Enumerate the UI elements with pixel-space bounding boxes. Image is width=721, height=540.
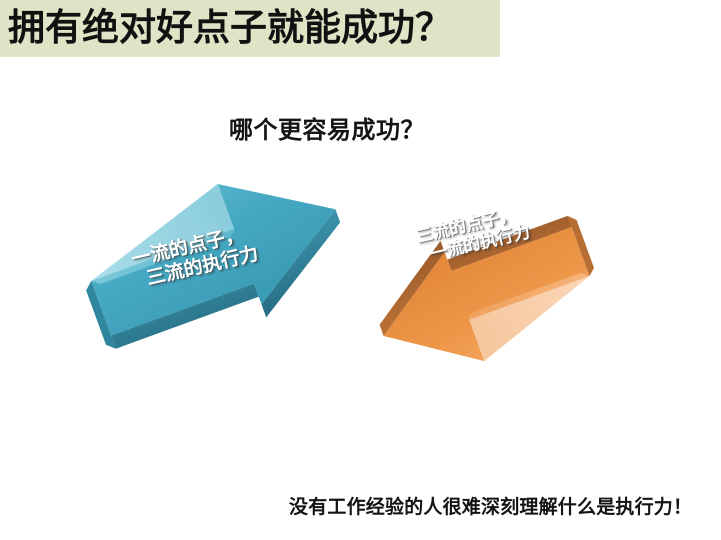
- orange-arrow-svg: [352, 178, 602, 358]
- footer-note: 没有工作经验的人很难深刻理解什么是执行力！: [289, 492, 692, 519]
- orange-arrow-graphic: [352, 178, 602, 358]
- blue-arrow-graphic: [88, 188, 373, 388]
- title-band: 拥有绝对好点子就能成功？: [0, 0, 500, 57]
- subtitle-question: 哪个更容易成功？: [229, 110, 425, 145]
- page-title: 拥有绝对好点子就能成功？: [8, 3, 494, 53]
- slide-canvas: 拥有绝对好点子就能成功？ 哪个更容易成功？: [0, 0, 721, 540]
- blue-arrow-svg: [88, 188, 373, 388]
